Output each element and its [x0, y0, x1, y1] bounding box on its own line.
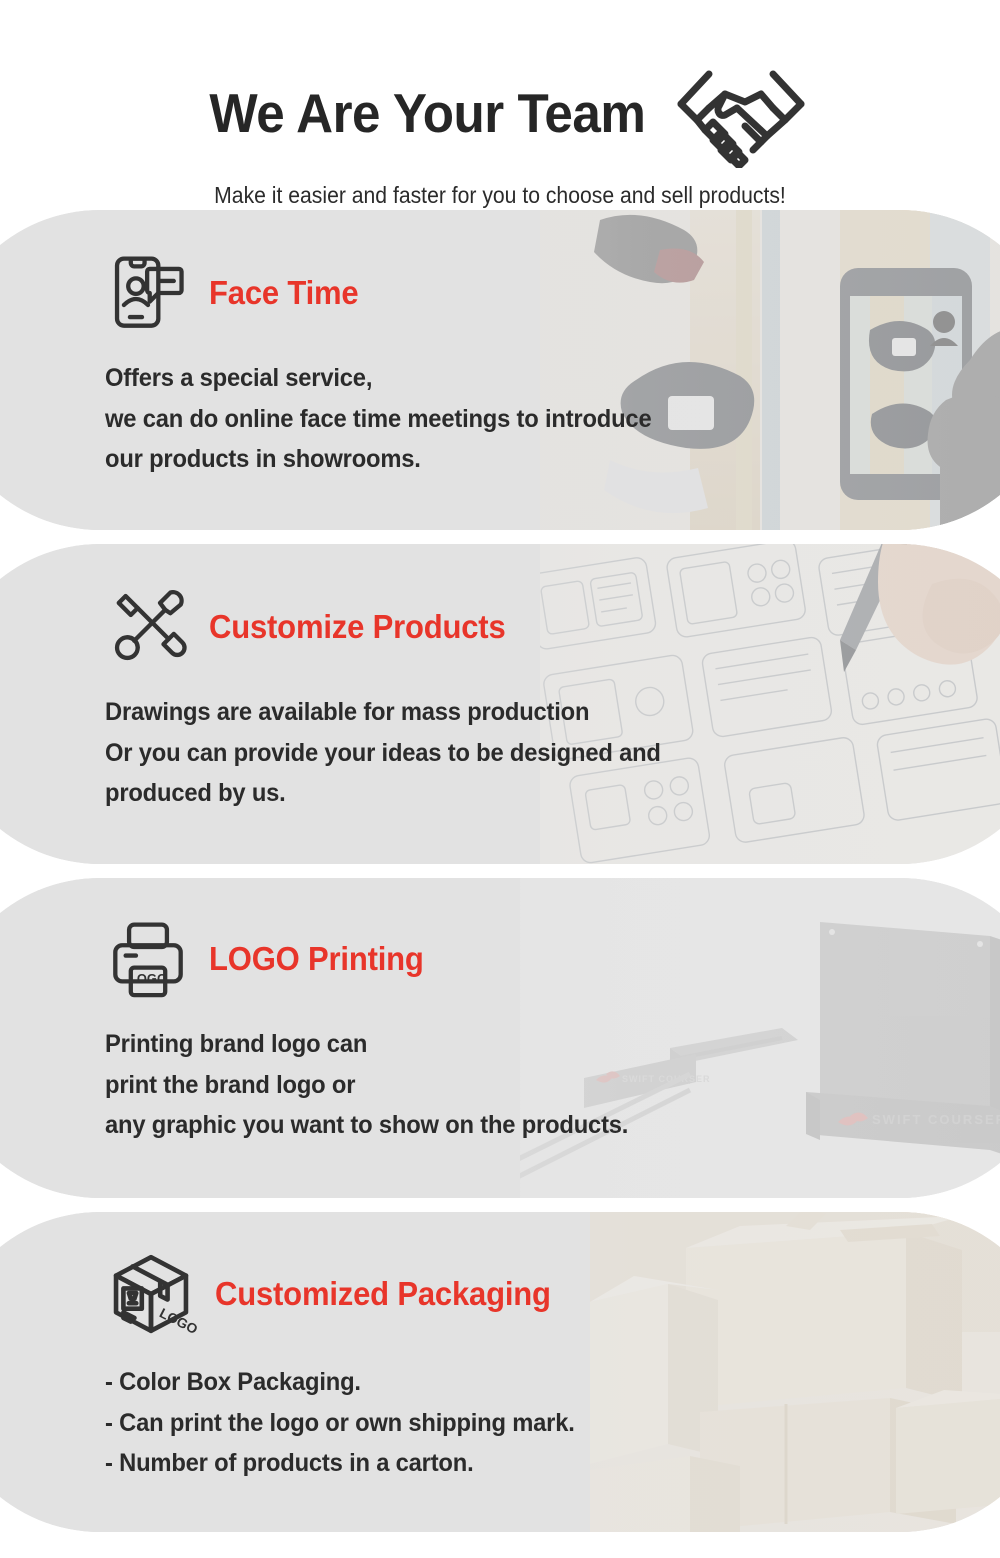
card-title: LOGO Printing	[209, 940, 424, 978]
card-body: Offers a special service, we can do onli…	[105, 358, 1000, 480]
card-content-logo-printing: LOGO LOGO Printing Printing brand logo c…	[0, 878, 1000, 1146]
card-head: Face Time	[105, 250, 1000, 336]
card-line: - Number of products in a carton.	[105, 1443, 1000, 1484]
card-body: Drawings are available for mass producti…	[105, 692, 1000, 814]
video-call-phone-icon	[105, 250, 191, 336]
header-title-row: We Are Your Team	[0, 0, 1000, 168]
card-line: - Color Box Packaging.	[105, 1362, 1000, 1403]
card-line: Printing brand logo can	[105, 1024, 1000, 1065]
card-line: - Can print the logo or own shipping mar…	[105, 1403, 1000, 1444]
card-body: Printing brand logo can print the brand …	[105, 1024, 1000, 1146]
card-line: produced by us.	[105, 773, 1000, 814]
card-line: Offers a special service,	[105, 358, 1000, 399]
page-header: We Are Your Team	[0, 0, 1000, 196]
card-head: LOGO LOGO Printing	[105, 916, 1000, 1002]
box-logo-text: LOGO	[157, 1305, 197, 1337]
card-title: Face Time	[209, 274, 358, 312]
handshake-icon	[675, 60, 807, 168]
feature-card-customize-products: Customize Products Drawings are availabl…	[0, 544, 1000, 864]
carton-box-logo-icon: LOGO	[105, 1248, 197, 1340]
promo-page: We Are Your Team	[0, 0, 1000, 1558]
page-subtitle: Make it easier and faster for you to cho…	[40, 182, 960, 209]
card-line: we can do online face time meetings to i…	[105, 399, 1000, 440]
printer-logo-text: LOGO	[129, 971, 167, 986]
card-content-face-time: Face Time Offers a special service, we c…	[0, 210, 1000, 480]
card-line: our products in showrooms.	[105, 439, 1000, 480]
card-line: print the brand logo or	[105, 1065, 1000, 1106]
card-title: Customize Products	[209, 608, 506, 646]
card-line: Or you can provide your ideas to be desi…	[105, 733, 1000, 774]
card-content-customized-packaging: LOGO Customized Packaging - Color Box Pa…	[0, 1212, 1000, 1484]
card-head: Customize Products	[105, 584, 1000, 670]
page-title: We Are Your Team	[209, 86, 645, 141]
card-head: LOGO Customized Packaging	[105, 1248, 1000, 1340]
card-body: - Color Box Packaging. - Can print the l…	[105, 1362, 1000, 1484]
card-content-customize-products: Customize Products Drawings are availabl…	[0, 544, 1000, 814]
card-line: Drawings are available for mass producti…	[105, 692, 1000, 733]
wrench-screwdriver-icon	[105, 584, 191, 670]
card-title: Customized Packaging	[215, 1275, 551, 1313]
feature-card-logo-printing: SWIFT COURSER SWIFT COURSER	[0, 878, 1000, 1198]
feature-card-customized-packaging: LOGO Customized Packaging - Color Box Pa…	[0, 1212, 1000, 1532]
printer-logo-icon: LOGO	[105, 916, 191, 1002]
card-line: any graphic you want to show on the prod…	[105, 1105, 1000, 1146]
feature-card-face-time: Face Time Offers a special service, we c…	[0, 210, 1000, 530]
